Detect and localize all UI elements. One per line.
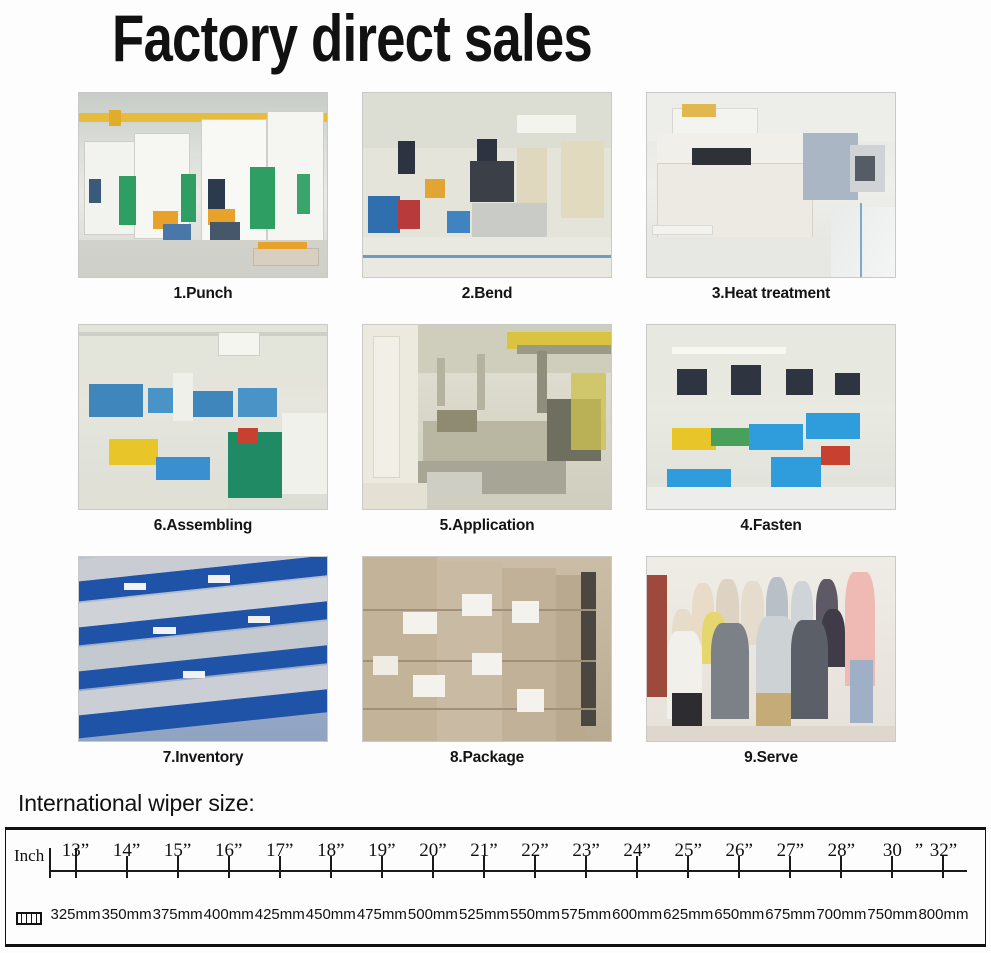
- process-step-caption: 9.Serve: [646, 742, 896, 776]
- mm-value: 550mm: [510, 906, 560, 923]
- punch-press-workshop-photo: [78, 92, 328, 278]
- process-photo-grid: 1.Punch: [78, 92, 896, 776]
- process-step-caption: 2.Bend: [362, 278, 612, 312]
- inch-value: 14”: [113, 840, 140, 862]
- mm-value: 675mm: [765, 906, 815, 923]
- mm-value: 600mm: [612, 906, 662, 923]
- inch-value: 15”: [164, 840, 191, 862]
- process-step-3: 3.Heat treatment: [646, 92, 896, 312]
- fastening-station-photo: [646, 324, 896, 510]
- process-step-caption: 6.Assembling: [78, 510, 328, 544]
- process-step-5: 5.Application: [362, 324, 612, 544]
- inch-value: 32”: [930, 840, 957, 862]
- inch-value-quote: ”: [915, 840, 923, 862]
- mm-value: 575mm: [561, 906, 611, 923]
- process-step-caption: 8.Package: [362, 742, 612, 776]
- inch-value: 25”: [674, 840, 701, 862]
- process-step-caption: 1.Punch: [78, 278, 328, 312]
- mm-value: 350mm: [102, 906, 152, 923]
- packaged-cartons-photo: [362, 556, 612, 742]
- bending-line-photo: [362, 92, 612, 278]
- wiper-size-table: Inch 13”14”15”16”17”18”19”20”21”22”23”24…: [5, 827, 986, 947]
- inventory-shelves-photo: [78, 556, 328, 742]
- process-step-1: 1.Punch: [78, 92, 328, 312]
- inch-value: 27”: [777, 840, 804, 862]
- mm-value: 375mm: [153, 906, 203, 923]
- mm-value: 625mm: [663, 906, 713, 923]
- process-step-4: 4.Fasten: [646, 324, 896, 544]
- mm-value: 700mm: [816, 906, 866, 923]
- inch-value: 23”: [572, 840, 599, 862]
- coating-application-line-photo: [362, 324, 612, 510]
- inch-value: 16”: [215, 840, 242, 862]
- inch-tick-origin: [49, 848, 51, 878]
- mm-value: 475mm: [357, 906, 407, 923]
- inch-axis-line: [50, 870, 967, 872]
- mm-value: 400mm: [204, 906, 254, 923]
- process-step-8: 8.Package: [362, 556, 612, 776]
- ruler-icon: [16, 912, 42, 925]
- assembly-line-photo: [78, 324, 328, 510]
- mm-value: 450mm: [306, 906, 356, 923]
- mm-value: 650mm: [714, 906, 764, 923]
- size-chart-heading: International wiper size:: [18, 790, 255, 817]
- mm-value: 800mm: [918, 906, 968, 923]
- inch-value: 28”: [828, 840, 855, 862]
- service-team-photo: [646, 556, 896, 742]
- inch-row: Inch 13”14”15”16”17”18”19”20”21”22”23”24…: [6, 830, 985, 890]
- mm-row: 325mm350mm375mm400mm425mm450mm475mm500mm…: [6, 890, 985, 946]
- mm-value: 525mm: [459, 906, 509, 923]
- inch-value: 30: [883, 840, 902, 862]
- process-step-2: 2.Bend: [362, 92, 612, 312]
- mm-value: 325mm: [51, 906, 101, 923]
- inch-value: 22”: [521, 840, 548, 862]
- heat-treatment-furnace-photo: [646, 92, 896, 278]
- inch-value: 17”: [266, 840, 293, 862]
- inch-value: 18”: [317, 840, 344, 862]
- process-step-caption: 4.Fasten: [646, 510, 896, 544]
- mm-value: 500mm: [408, 906, 458, 923]
- process-step-caption: 5.Application: [362, 510, 612, 544]
- inch-row-label: Inch: [14, 846, 44, 866]
- page-title: Factory direct sales: [112, 2, 592, 74]
- inch-value: 13”: [62, 840, 89, 862]
- inch-value: 26”: [726, 840, 753, 862]
- inch-value: 24”: [623, 840, 650, 862]
- process-step-7: 7.Inventory: [78, 556, 328, 776]
- mm-value: 750mm: [867, 906, 917, 923]
- process-step-caption: 7.Inventory: [78, 742, 328, 776]
- inch-value: 20”: [419, 840, 446, 862]
- process-step-caption: 3.Heat treatment: [646, 278, 896, 312]
- factory-infographic-page: Factory direct sales: [0, 0, 991, 953]
- inch-value: 19”: [368, 840, 395, 862]
- mm-value: 425mm: [255, 906, 305, 923]
- process-step-9: 9.Serve: [646, 556, 896, 776]
- inch-value: 21”: [470, 840, 497, 862]
- process-step-6: 6.Assembling: [78, 324, 328, 544]
